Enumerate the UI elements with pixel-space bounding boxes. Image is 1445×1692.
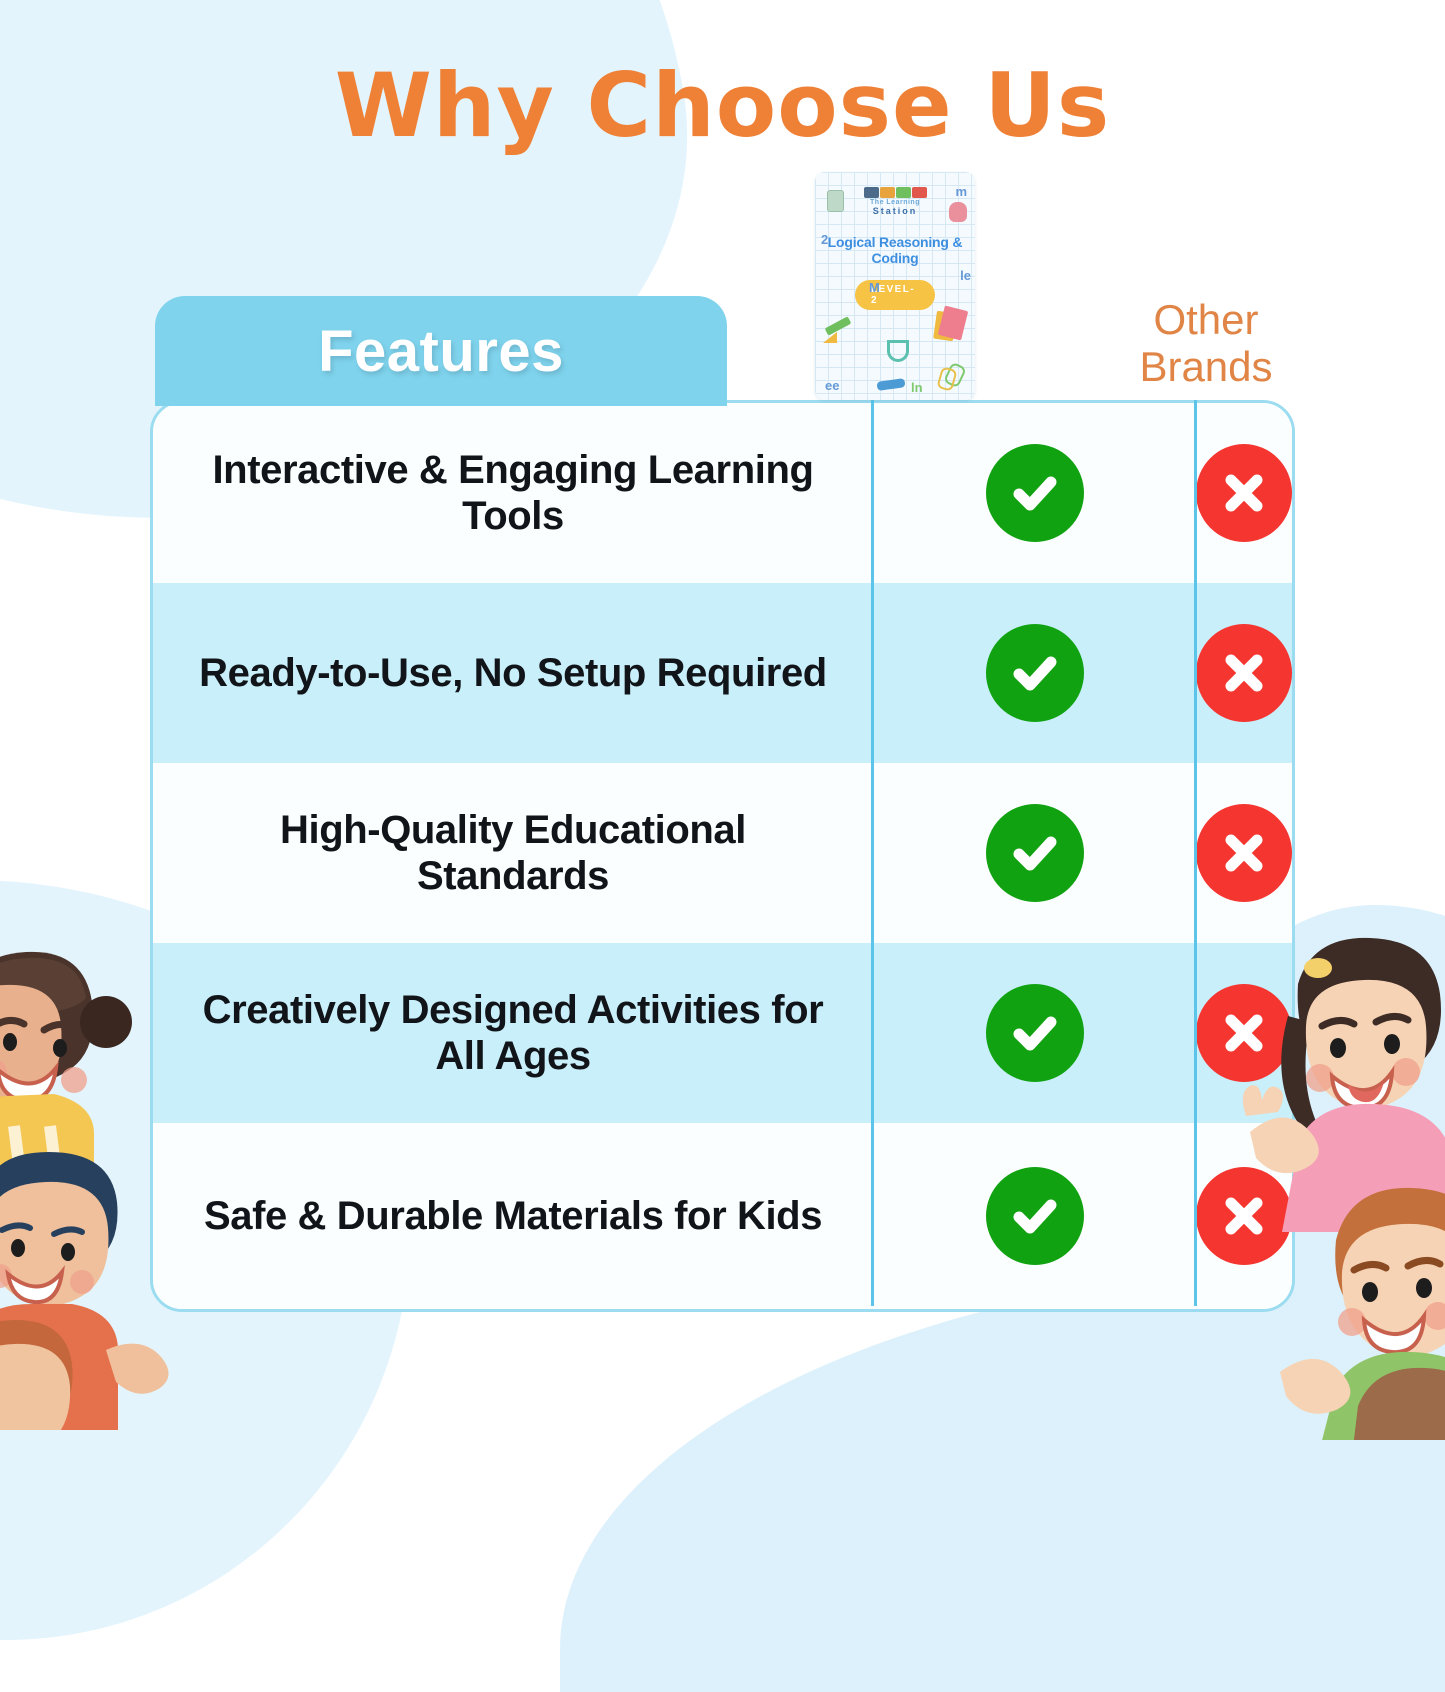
train-logo-icon	[815, 180, 975, 198]
table-row: High-Quality Educational Standards	[153, 763, 1292, 943]
doodle-scribble: le	[960, 268, 971, 283]
brand-logo: The Learning Station	[815, 180, 975, 216]
our-product-cell	[873, 444, 1196, 542]
page-title: Why Choose Us	[0, 62, 1445, 150]
other-brands-cell	[1196, 444, 1292, 542]
check-icon	[986, 1167, 1084, 1265]
feature-label: Ready-to-Use, No Setup Required	[153, 650, 873, 696]
level-badge: LEVEL-2	[855, 280, 935, 310]
features-column-header: Features	[155, 296, 727, 406]
magnifier-icon	[887, 340, 909, 362]
check-icon	[986, 444, 1084, 542]
comparison-grid: Interactive & Engaging Learning Tools Re…	[150, 400, 1295, 1312]
other-brands-column-header: Other Brands	[1046, 288, 1366, 398]
check-icon	[986, 984, 1084, 1082]
feature-label: Creatively Designed Activities for All A…	[153, 987, 873, 1080]
check-icon	[986, 804, 1084, 902]
table-row: Creatively Designed Activities for All A…	[153, 943, 1292, 1123]
features-header-label: Features	[318, 318, 564, 385]
kids-illustration-right	[1240, 920, 1445, 1440]
product-cover-image: The Learning Station Logical Reasoning &…	[815, 172, 975, 400]
table-row: Ready-to-Use, No Setup Required	[153, 583, 1292, 763]
doodle-scribble: ee	[825, 378, 839, 393]
product-title: Logical Reasoning & Coding	[821, 234, 969, 266]
other-brands-cell	[1196, 624, 1292, 722]
doodle-scribble: m	[955, 184, 967, 199]
our-product-cell	[873, 624, 1196, 722]
feature-label: Interactive & Engaging Learning Tools	[153, 447, 873, 540]
other-brands-cell	[1196, 804, 1292, 902]
doodle-scribble: 2	[821, 232, 828, 247]
our-product-cell	[873, 1167, 1196, 1265]
cross-icon	[1196, 624, 1292, 722]
comparison-table: Features Other Brands Interactive & Enga…	[150, 296, 1295, 1312]
triangle-ruler-icon	[823, 332, 837, 343]
cross-icon	[1196, 804, 1292, 902]
our-product-cell	[873, 984, 1196, 1082]
table-row: Interactive & Engaging Learning Tools	[153, 403, 1292, 583]
column-divider-1	[871, 400, 874, 1306]
brand-line-2: Station	[815, 206, 975, 216]
cross-icon	[1196, 444, 1292, 542]
other-brands-line-2: Brands	[1139, 343, 1272, 390]
feature-label: Safe & Durable Materials for Kids	[153, 1193, 873, 1239]
column-divider-2	[1194, 400, 1197, 1306]
table-row: Safe & Durable Materials for Kids	[153, 1123, 1292, 1309]
doodle-scribble: M	[869, 280, 880, 295]
doodle-scribble: ln	[911, 380, 923, 395]
feature-label: High-Quality Educational Standards	[153, 807, 873, 900]
our-product-cell	[873, 804, 1196, 902]
kids-illustration-left	[0, 930, 188, 1430]
check-icon	[986, 624, 1084, 722]
other-brands-line-1: Other	[1153, 296, 1258, 343]
brand-line-1: The Learning	[815, 199, 975, 206]
